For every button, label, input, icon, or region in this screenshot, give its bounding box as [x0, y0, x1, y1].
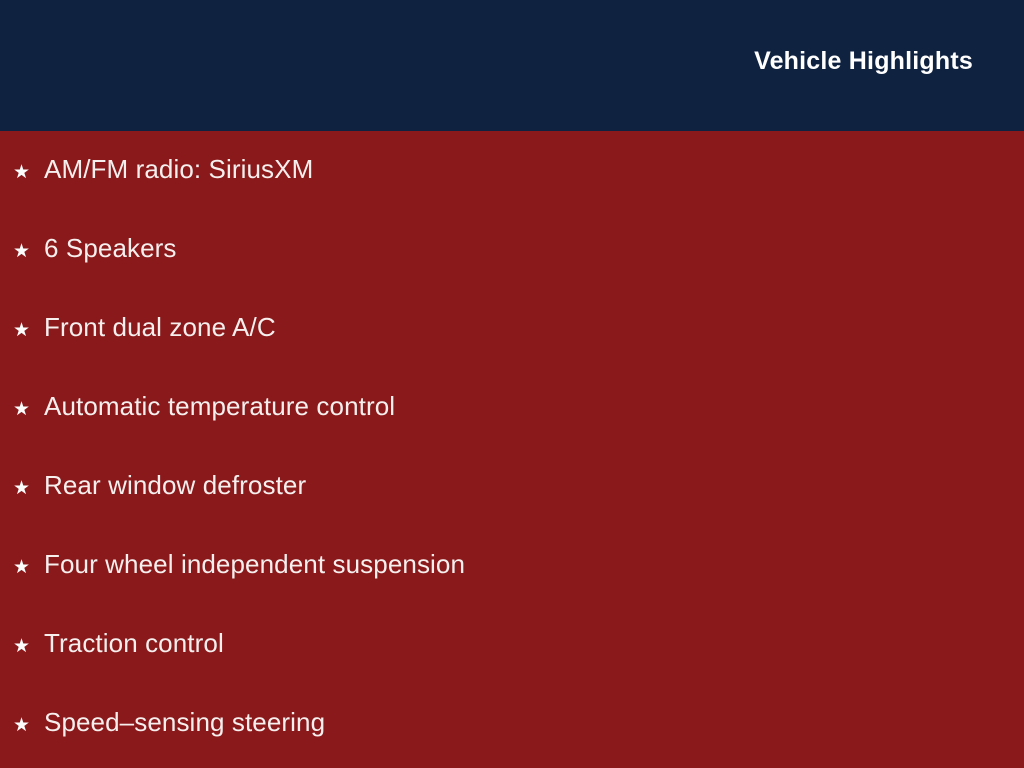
- list-item-label: Four wheel independent suspension: [44, 551, 465, 577]
- list-item: ★ 6 Speakers: [13, 235, 177, 261]
- list-item: ★ Speed–sensing steering: [13, 709, 325, 735]
- list-item-label: AM/FM radio: SiriusXM: [44, 156, 313, 182]
- vehicle-highlights-list: ★ AM/FM radio: SiriusXM ★ 6 Speakers ★ F…: [0, 131, 1024, 768]
- list-item: ★ Rear window defroster: [13, 472, 306, 498]
- star-icon: ★: [13, 242, 44, 261]
- star-icon: ★: [13, 716, 44, 735]
- list-item-label: Automatic temperature control: [44, 393, 395, 419]
- star-icon: ★: [13, 163, 44, 182]
- star-icon: ★: [13, 321, 44, 340]
- list-item-label: Traction control: [44, 630, 224, 656]
- star-icon: ★: [13, 400, 44, 419]
- page-title: Vehicle Highlights: [754, 48, 973, 76]
- list-item-label: Speed–sensing steering: [44, 709, 325, 735]
- list-item-label: Front dual zone A/C: [44, 314, 276, 340]
- vehicle-highlights-slide: Vehicle Highlights ★ AM/FM radio: Sirius…: [0, 0, 1024, 768]
- list-item: ★ Traction control: [13, 630, 224, 656]
- star-icon: ★: [13, 637, 44, 656]
- star-icon: ★: [13, 558, 44, 577]
- list-item: ★ Automatic temperature control: [13, 393, 395, 419]
- star-icon: ★: [13, 479, 44, 498]
- list-item: ★ AM/FM radio: SiriusXM: [13, 156, 313, 182]
- list-item-label: 6 Speakers: [44, 235, 177, 261]
- slide-header-band: Vehicle Highlights: [0, 0, 1024, 131]
- list-item: ★ Front dual zone A/C: [13, 314, 276, 340]
- list-item: ★ Four wheel independent suspension: [13, 551, 465, 577]
- list-item-label: Rear window defroster: [44, 472, 306, 498]
